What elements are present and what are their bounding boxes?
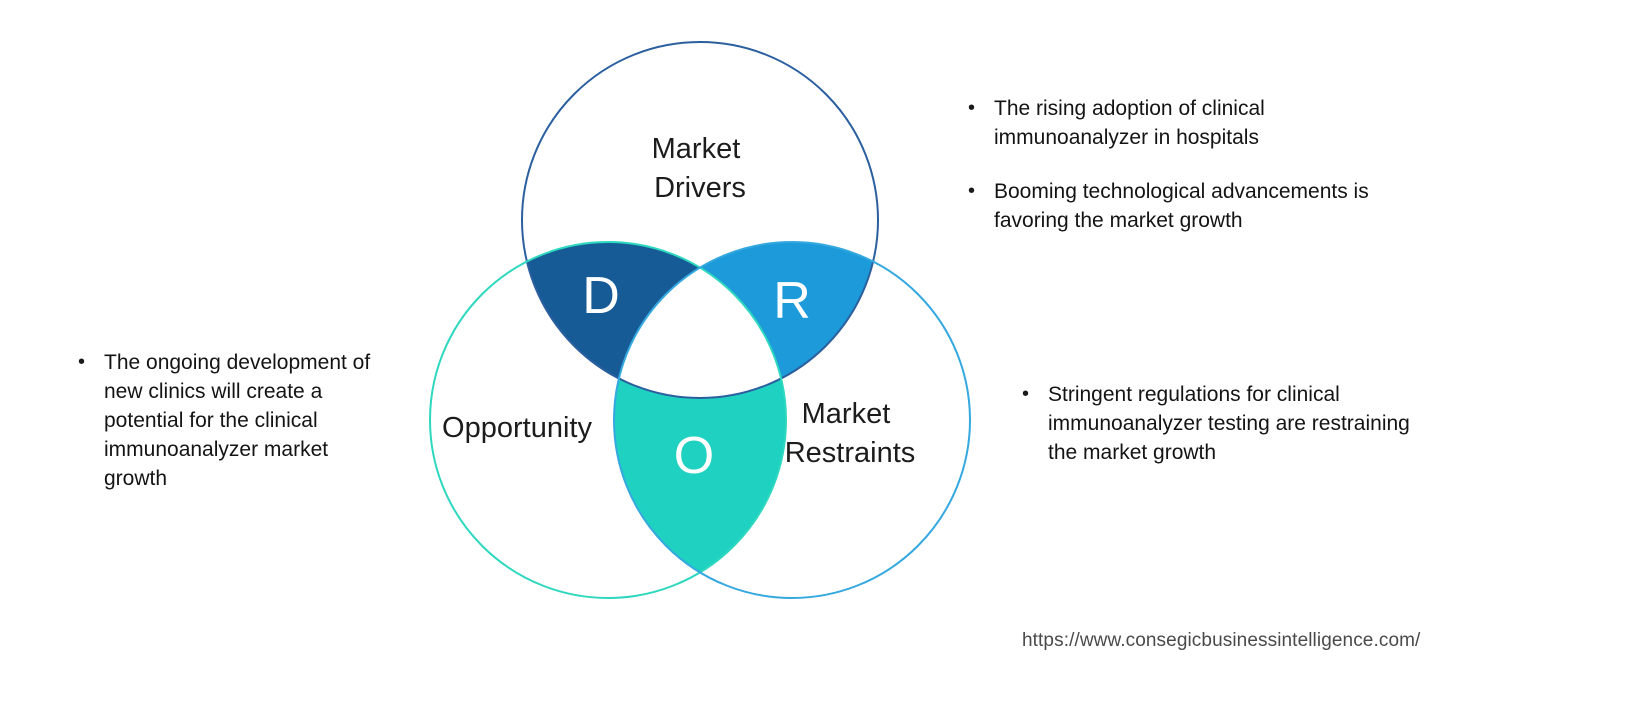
list-item: • The rising adoption of clinical immuno… [968, 94, 1388, 152]
venn-diagram: Market Drivers Opportunity Market Restra… [380, 30, 1020, 610]
venn-label-drivers-line1: Market [652, 133, 741, 165]
bullet-icon: • [1022, 380, 1048, 409]
venn-overlap-letter-O: O [674, 427, 714, 485]
venn-overlap-letter-D: D [582, 267, 620, 325]
venn-label-opportunity: Opportunity [442, 412, 592, 444]
callout-restraints-text-1: Stringent regulations for clinical immun… [1048, 380, 1428, 467]
venn-label-restraints-line1: Market [802, 398, 891, 430]
callout-drivers-text-2: Booming technological advancements is fa… [994, 177, 1374, 235]
diagram-canvas: Market Drivers Opportunity Market Restra… [0, 0, 1641, 708]
bullet-icon: • [78, 348, 104, 377]
venn-label-restraints: Market Restraints [785, 398, 916, 469]
venn-label-drivers: Market Drivers [652, 133, 749, 204]
venn-svg: Market Drivers Opportunity Market Restra… [380, 30, 1020, 610]
venn-label-drivers-line2: Drivers [654, 172, 746, 204]
source-url[interactable]: https://www.consegicbusinessintelligence… [1022, 628, 1420, 654]
callout-drivers-text-1: The rising adoption of clinical immunoan… [994, 94, 1374, 152]
list-item: • Booming technological advancements is … [968, 177, 1388, 235]
venn-overlap-letter-R: R [773, 272, 811, 330]
list-item: • Stringent regulations for clinical imm… [1022, 380, 1452, 467]
venn-label-restraints-line2: Restraints [785, 437, 916, 469]
callout-opportunity: • The ongoing development of new clinics… [78, 348, 388, 493]
callout-drivers: • The rising adoption of clinical immuno… [968, 94, 1388, 235]
callout-restraints: • Stringent regulations for clinical imm… [1022, 380, 1452, 467]
callout-opportunity-text-1: The ongoing development of new clinics w… [104, 348, 374, 493]
bullet-icon: • [968, 177, 994, 206]
list-item: • The ongoing development of new clinics… [78, 348, 388, 493]
bullet-icon: • [968, 94, 994, 123]
